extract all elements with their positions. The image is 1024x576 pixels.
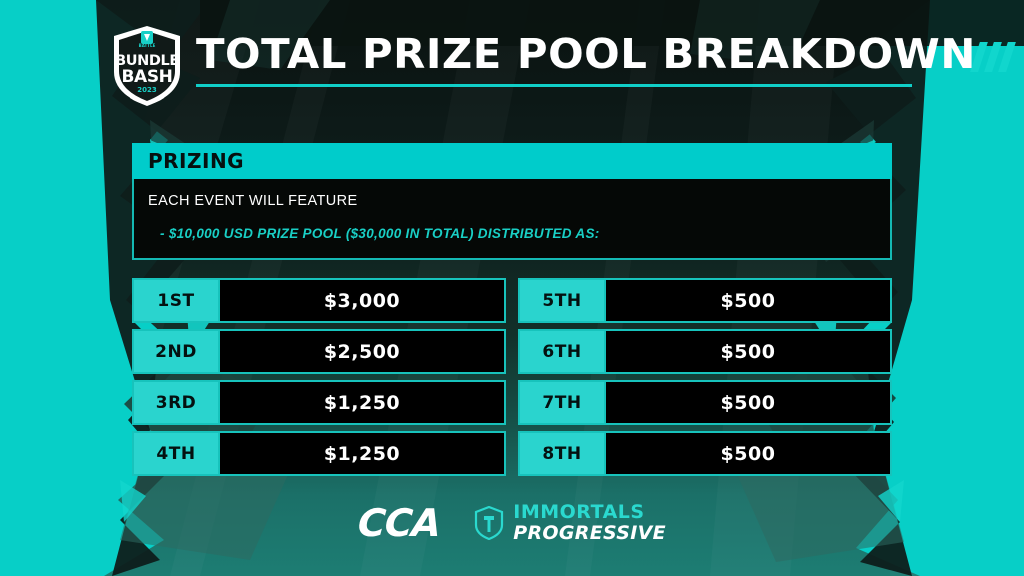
amount-label: $500 — [721, 290, 776, 312]
table-row: 1ST $3,000 — [132, 278, 506, 323]
svg-text:2023: 2023 — [137, 86, 157, 94]
amount-cell: $500 — [604, 433, 890, 474]
cca-logo: CCA — [357, 501, 442, 545]
prizing-panel-header: PRIZING — [132, 143, 892, 179]
prizing-description: EACH EVENT WILL FEATURE — [134, 191, 890, 213]
prizing-panel-body: EACH EVENT WILL FEATURE - $10,000 USD PR… — [132, 179, 892, 260]
amount-label: $1,250 — [324, 443, 400, 465]
progressive-label: PROGRESSIVE — [513, 524, 666, 543]
amount-cell: $500 — [604, 382, 890, 423]
rank-cell: 7TH — [520, 382, 604, 423]
footer-logos: CCA IMMORTALS PROGRESSIVE — [0, 492, 1024, 554]
amount-cell: $3,000 — [218, 280, 504, 321]
amount-label: $500 — [721, 443, 776, 465]
rank-label: 6TH — [542, 342, 581, 362]
prizing-panel: PRIZING EACH EVENT WILL FEATURE - $10,00… — [132, 143, 892, 260]
table-row: 4TH $1,250 — [132, 431, 506, 476]
immortals-label: IMMORTALS — [513, 503, 666, 522]
rank-cell: 1ST — [134, 280, 218, 321]
rank-cell: 6TH — [520, 331, 604, 372]
amount-cell: $1,250 — [218, 433, 504, 474]
table-row: 6TH $500 — [518, 329, 892, 374]
rank-label: 3RD — [156, 393, 197, 413]
amount-cell: $2,500 — [218, 331, 504, 372]
table-row: 3RD $1,250 — [132, 380, 506, 425]
rank-label: 4TH — [156, 444, 195, 464]
page-title: TOTAL PRIZE POOL BREAKDOWN — [196, 34, 976, 75]
table-row: 8TH $500 — [518, 431, 892, 476]
rank-cell: 4TH — [134, 433, 218, 474]
rank-cell: 8TH — [520, 433, 604, 474]
poster-stage: BATTLE BUNDLE BASH 2023 TOTAL PRIZE POOL… — [0, 0, 1024, 576]
amount-cell: $1,250 — [218, 382, 504, 423]
amount-cell: $500 — [604, 280, 890, 321]
table-row: 7TH $500 — [518, 380, 892, 425]
rank-cell: 5TH — [520, 280, 604, 321]
table-row: 5TH $500 — [518, 278, 892, 323]
amount-label: $2,500 — [324, 341, 400, 363]
title-underline — [196, 84, 912, 87]
prizing-heading: PRIZING — [148, 149, 244, 173]
rank-label: 7TH — [542, 393, 581, 413]
page-header: BATTLE BUNDLE BASH 2023 TOTAL PRIZE POOL… — [0, 0, 1024, 104]
prize-table: 1ST $3,000 5TH $500 2ND $2,500 6TH — [132, 278, 892, 476]
amount-cell: $500 — [604, 331, 890, 372]
amount-label: $1,250 — [324, 392, 400, 414]
amount-label: $500 — [721, 341, 776, 363]
immortals-progressive-logo: IMMORTALS PROGRESSIVE — [474, 503, 666, 543]
amount-label: $3,000 — [324, 290, 400, 312]
svg-text:BASH: BASH — [122, 67, 173, 87]
rank-label: 5TH — [542, 291, 581, 311]
rank-label: 2ND — [155, 342, 197, 362]
title-block: TOTAL PRIZE POOL BREAKDOWN — [196, 34, 916, 87]
rank-label: 1ST — [157, 291, 194, 311]
rank-cell: 3RD — [134, 382, 218, 423]
table-row: 2ND $2,500 — [132, 329, 506, 374]
title-slashes-decoration — [975, 42, 1011, 75]
rank-label: 8TH — [542, 444, 581, 464]
prizing-detail: - $10,000 USD PRIZE POOL ($30,000 IN TOT… — [134, 213, 890, 244]
svg-text:BATTLE: BATTLE — [139, 43, 156, 48]
rank-cell: 2ND — [134, 331, 218, 372]
amount-label: $500 — [721, 392, 776, 414]
immortals-shield-icon — [474, 506, 504, 540]
bundle-bash-shield-logo: BATTLE BUNDLE BASH 2023 — [108, 24, 186, 108]
